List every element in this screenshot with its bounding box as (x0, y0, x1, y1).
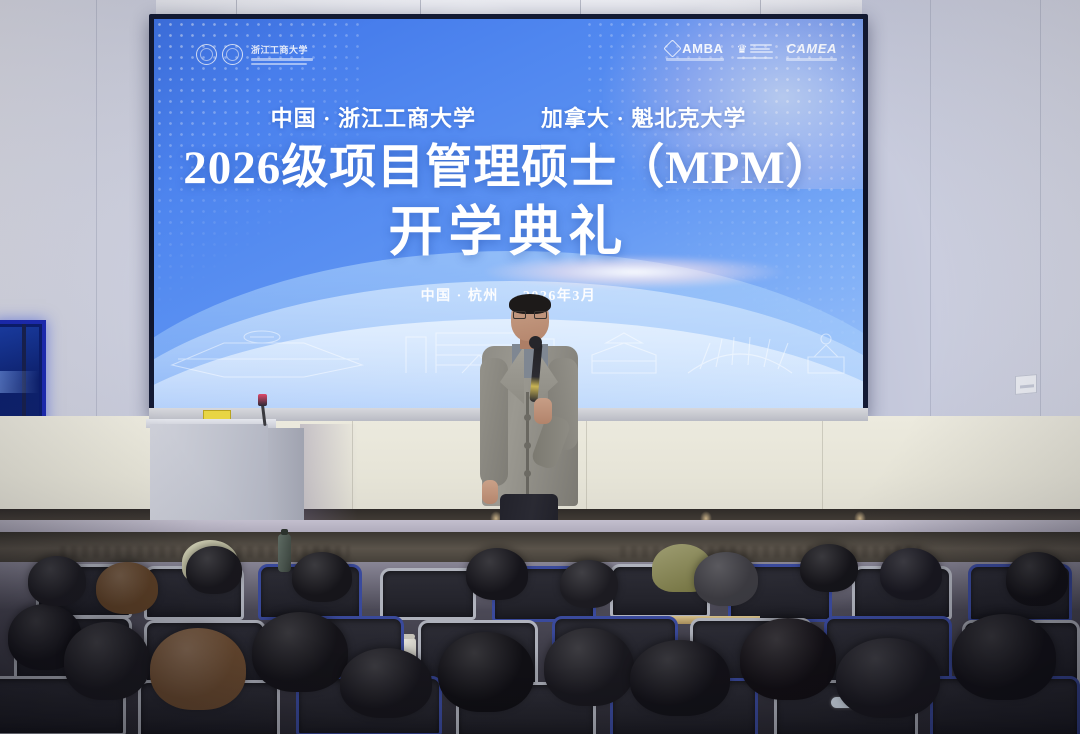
wordmark-rule (251, 63, 307, 66)
window-reflection (0, 371, 39, 393)
wordmark-rule (251, 58, 313, 61)
speaker-right-hand (534, 398, 552, 424)
school-seal-icon (222, 44, 243, 65)
university-seal-icon (196, 44, 217, 65)
audience-head (952, 614, 1056, 700)
eyeglasses-icon (513, 311, 547, 319)
speaker-jacket-button (524, 414, 531, 421)
audience-head (252, 612, 348, 692)
chair[interactable] (380, 568, 476, 620)
light-switch-icon[interactable] (1015, 374, 1037, 395)
speaker-left-hand (482, 480, 498, 504)
audience-head (880, 548, 942, 600)
audience-head (28, 556, 86, 606)
speaker-jacket-button (524, 442, 531, 449)
audience-head (340, 648, 432, 718)
slide-header-right: 加拿大 · 魁北克大学 (541, 106, 746, 131)
slide-title-line1: 2026级项目管理硕士（MPM） (154, 143, 863, 194)
member-lines (750, 44, 773, 53)
audience-head (630, 640, 730, 716)
amba-diamond-icon (663, 39, 681, 57)
slide-university-logos: 浙江工商大学 (196, 43, 313, 65)
audience-head (466, 548, 528, 600)
stage-wall-seam (822, 418, 823, 510)
audience-head (64, 622, 150, 700)
member-logo: ♛ (737, 43, 774, 60)
amba-sub-rule (666, 58, 723, 61)
audience-head (836, 638, 940, 718)
slide-header: 中国 · 浙江工商大学 加拿大 · 魁北克大学 (154, 101, 863, 133)
camea-logo: CAMEA (786, 41, 837, 61)
camea-sub-rule (786, 58, 837, 61)
amba-label: AMBA (682, 41, 723, 56)
member-sub-rule (737, 57, 774, 60)
audience-head (560, 560, 618, 608)
university-wordmark: 浙江工商大学 (251, 43, 313, 65)
wordmark-cn: 浙江工商大学 (251, 43, 313, 56)
audience-head (150, 628, 246, 710)
speaker-jacket-button (524, 470, 531, 477)
audience-head (544, 628, 634, 706)
slide-title-line2: 开学典礼 (154, 205, 863, 259)
amba-logo: AMBA (666, 41, 723, 61)
audience-head (1006, 552, 1068, 606)
slide-accreditation-logos: AMBA ♛ CAMEA (666, 41, 837, 61)
water-bottle[interactable] (278, 534, 291, 572)
photo-scene: 浙江工商大学 AMBA ♛ (0, 0, 1080, 734)
podium-small-object (258, 394, 267, 406)
microphone-head (529, 336, 542, 349)
audience-head (96, 562, 158, 614)
audience-head (438, 632, 534, 712)
audience (0, 520, 1080, 734)
camea-label: CAMEA (786, 41, 837, 56)
slide-header-left: 中国 · 浙江工商大学 (271, 106, 476, 131)
audience-head (292, 552, 352, 602)
audience-head (694, 552, 758, 606)
audience-head (800, 544, 858, 592)
audience-head (186, 546, 242, 594)
crown-icon: ♛ (737, 43, 748, 55)
audience-head (740, 618, 836, 700)
